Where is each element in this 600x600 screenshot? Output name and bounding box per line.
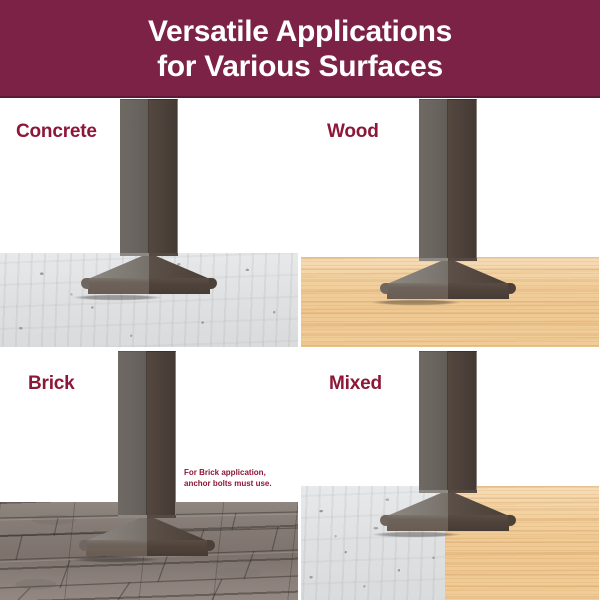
brick-note-line-2: anchor bolts must use.: [184, 478, 272, 489]
post-base: [88, 253, 210, 294]
plinth-right: [448, 515, 509, 531]
plinth-right: [147, 540, 208, 556]
base-ear-left: [79, 540, 87, 551]
post-base: [86, 515, 208, 556]
post-face-right: [448, 351, 477, 491]
page-title-line-1: Versatile Applications: [148, 14, 452, 49]
brick-application-note: For Brick application, anchor bolts must…: [184, 467, 272, 489]
post-corner-edge: [447, 99, 448, 259]
plinth-right: [149, 278, 210, 294]
base-shadow: [50, 556, 180, 563]
panel-label-wood: Wood: [327, 121, 379, 143]
post-corner-edge: [447, 351, 448, 491]
horizontal-panel-divider: [0, 348, 600, 351]
post-base-plinth: [387, 515, 509, 531]
base-ear-left: [380, 283, 388, 294]
post-face-right: [448, 99, 477, 259]
post-base-plinth: [86, 540, 208, 556]
post-face-right: [147, 351, 176, 516]
post-base-bevel: [88, 253, 210, 279]
post-base-plinth: [88, 278, 210, 294]
post-base-bevel: [86, 515, 208, 541]
base-bevel-top: [419, 258, 477, 261]
base-bevel-top: [419, 490, 477, 493]
post-base: [387, 258, 509, 299]
base-bevel-left: [86, 515, 147, 541]
post-base: [387, 490, 509, 531]
brick-note-line-1: For Brick application,: [184, 467, 272, 478]
base-bevel-top: [120, 253, 178, 256]
product-feature-graphic: Versatile Applications for Various Surfa…: [0, 0, 600, 600]
base-shadow: [351, 531, 481, 538]
post-corner-edge: [148, 99, 149, 254]
panel-label-brick: Brick: [28, 373, 75, 395]
base-bevel-top: [118, 515, 176, 518]
base-shadow: [351, 299, 481, 306]
post-corner-edge: [146, 351, 147, 516]
header-banner: Versatile Applications for Various Surfa…: [0, 0, 600, 98]
base-ear-left: [81, 278, 89, 289]
plinth-left: [387, 515, 448, 531]
base-shadow: [52, 294, 182, 301]
panel-concrete: Concrete: [0, 99, 298, 347]
post-face-left: [419, 99, 448, 260]
base-bevel-left: [88, 253, 149, 279]
panel-label-concrete: Concrete: [16, 121, 97, 143]
panel-label-mixed: Mixed: [329, 373, 382, 395]
plinth-left: [387, 283, 448, 299]
panel-wood: Wood: [301, 99, 599, 347]
plinth-left: [88, 278, 149, 294]
panel-mixed: Mixed: [301, 351, 599, 600]
post-base-plinth: [387, 283, 509, 299]
base-bevel-right: [147, 515, 208, 541]
post-face-left: [419, 351, 448, 492]
base-bevel-right: [149, 253, 210, 279]
base-bevel-right: [448, 258, 509, 284]
page-title-line-2: for Various Surfaces: [157, 49, 443, 84]
plinth-right: [448, 283, 509, 299]
panel-brick: For Brick application, anchor bolts must…: [0, 351, 298, 600]
plinth-left: [86, 540, 147, 556]
base-ear-left: [380, 515, 388, 526]
header-underline: [0, 96, 600, 98]
post-face-left: [118, 351, 147, 517]
base-bevel-left: [387, 258, 448, 284]
base-bevel-right: [448, 490, 509, 516]
post-base-bevel: [387, 490, 509, 516]
post-face-right: [149, 99, 178, 254]
post-face-left: [120, 99, 149, 255]
post-base-bevel: [387, 258, 509, 284]
base-bevel-left: [387, 490, 448, 516]
